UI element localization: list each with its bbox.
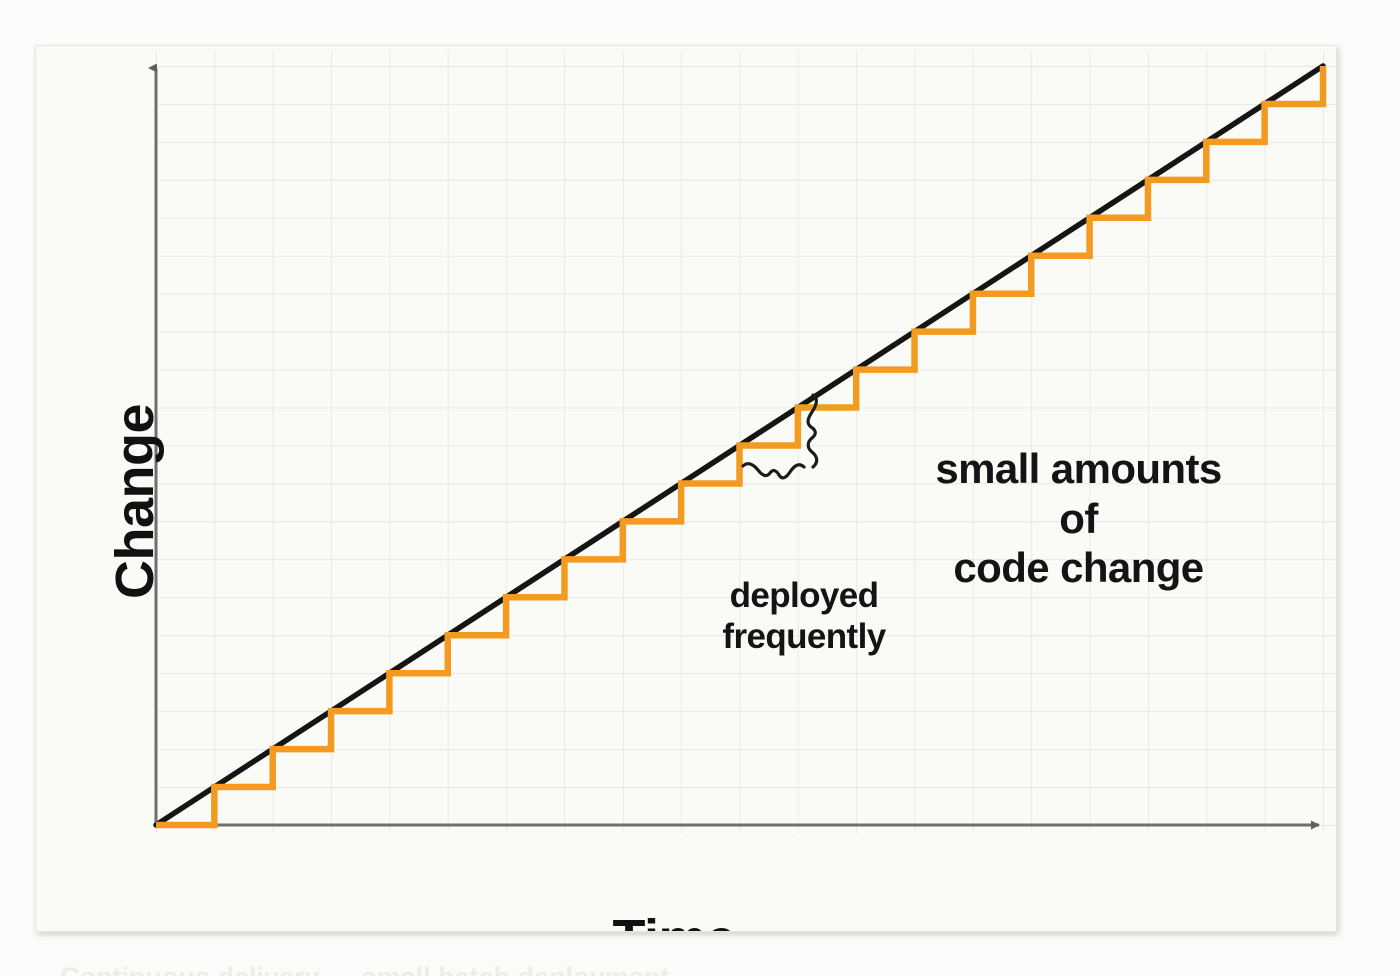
screenshot-root: Change Time small amounts of code change… xyxy=(0,0,1400,976)
annotation-line-1: deployed xyxy=(708,575,900,616)
slide-card: Change Time small amounts of code change… xyxy=(35,45,1337,932)
annotation-line-2: frequently xyxy=(708,616,900,657)
x-axis-title: Time xyxy=(35,908,1337,932)
annotation-line-1: small amounts of xyxy=(911,444,1246,543)
y-axis-title: Change xyxy=(104,404,166,599)
annotation-line-2: code change xyxy=(911,543,1246,593)
caption-sliver-cutoff: Continuous delivery — small batch deploy… xyxy=(60,962,720,976)
annotation-small-amounts-of-code-change: small amounts of code change xyxy=(911,444,1246,593)
annotation-deployed-frequently: deployed frequently xyxy=(708,575,900,658)
